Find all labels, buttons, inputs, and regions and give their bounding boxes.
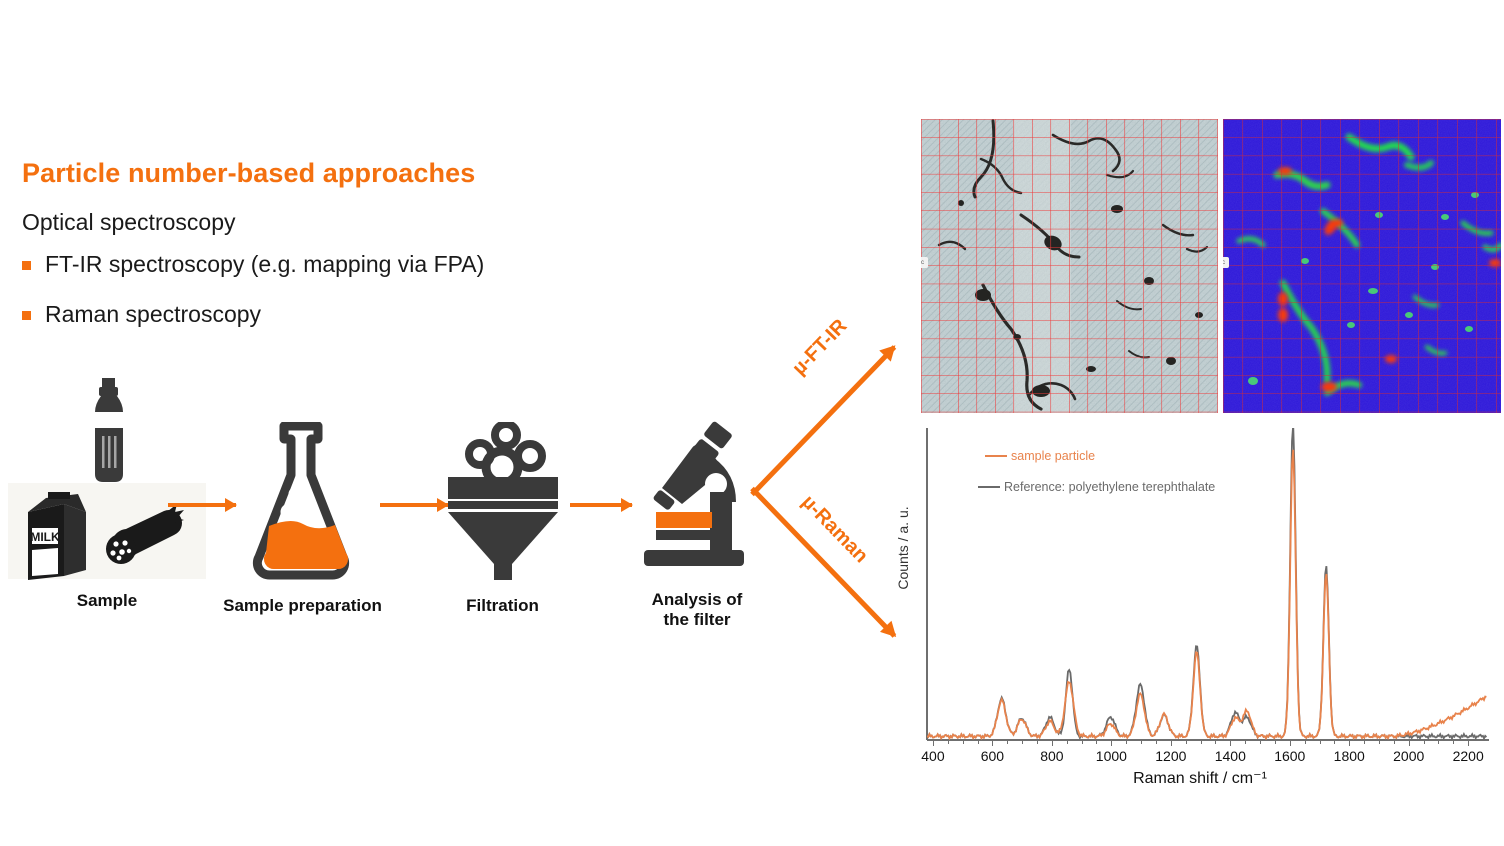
salami-icon: [98, 500, 186, 578]
x-tick-minor: [1082, 741, 1083, 744]
branch-label-ftir: µ-FT-IR: [788, 315, 852, 380]
step-label-analysis-line2: the filter: [612, 610, 782, 630]
x-tick-label: 600: [981, 748, 1004, 764]
x-tick: [1409, 741, 1410, 746]
workflow-step-preparation: Sample preparation: [200, 422, 405, 616]
water-bottle-icon: [78, 378, 138, 488]
page-title: Particle number-based approaches: [22, 158, 475, 189]
x-tick-minor: [1126, 741, 1127, 744]
y-axis-label: Counts / a. u.: [895, 473, 911, 623]
legend-swatch-reference: [978, 486, 1000, 489]
x-tick: [933, 741, 934, 746]
x-tick: [1111, 741, 1112, 746]
bullet-square-icon: [22, 261, 31, 270]
x-tick-minor: [1201, 741, 1202, 744]
x-tick-minor: [978, 741, 979, 744]
x-tick-minor: [1186, 741, 1187, 744]
x-tick-label: 1000: [1096, 748, 1127, 764]
x-tick-minor: [1320, 741, 1321, 744]
x-tick-minor: [1275, 741, 1276, 744]
x-tick-label: 1800: [1334, 748, 1365, 764]
milk-carton-icon: MILK: [20, 490, 98, 582]
x-tick: [1349, 741, 1350, 746]
x-tick-minor: [1453, 741, 1454, 744]
x-tick-minor: [948, 741, 949, 744]
step-label-filtration: Filtration: [420, 596, 585, 616]
x-tick-minor: [1424, 741, 1425, 744]
x-tick: [992, 741, 993, 746]
bullet-item-raman: Raman spectroscopy: [22, 301, 261, 328]
x-tick-minor: [1260, 741, 1261, 744]
legend-label-sample: sample particle: [1011, 449, 1095, 463]
image-marker-fpa: c: [1223, 257, 1229, 268]
x-tick-minor: [1141, 741, 1142, 744]
x-tick-label: 2000: [1393, 748, 1424, 764]
x-tick-minor: [1156, 741, 1157, 744]
workflow-step-analysis: Analysis of the filter: [612, 420, 782, 629]
x-tick: [1230, 741, 1231, 746]
x-tick-minor: [1245, 741, 1246, 744]
x-tick-minor: [1305, 741, 1306, 744]
bullet-item-ftir: FT-IR spectroscopy (e.g. mapping via FPA…: [22, 251, 484, 278]
x-tick-minor: [1394, 741, 1395, 744]
x-tick-label: 1200: [1155, 748, 1186, 764]
x-tick-minor: [1037, 741, 1038, 744]
x-tick: [1171, 741, 1172, 746]
erlenmeyer-flask-icon: [248, 422, 358, 582]
step-label-sample: Sample: [6, 591, 208, 611]
x-tick-label: 400: [921, 748, 944, 764]
workflow-step-filtration: Filtration: [420, 422, 585, 616]
series-line-reference: [927, 428, 1486, 738]
step-label-analysis: Analysis of the filter: [612, 590, 782, 629]
step-label-preparation: Sample preparation: [200, 596, 405, 616]
bullet-label: FT-IR spectroscopy (e.g. mapping via FPA…: [45, 251, 484, 278]
step-label-analysis-line1: Analysis of: [612, 590, 782, 610]
x-tick-minor: [1334, 741, 1335, 744]
legend-swatch-sample: [985, 455, 1007, 458]
spectrum-plot-area: [927, 428, 1487, 740]
x-tick-label: 2200: [1453, 748, 1484, 764]
x-tick-minor: [1022, 741, 1023, 744]
bullet-label: Raman spectroscopy: [45, 301, 261, 328]
x-tick-label: 1600: [1274, 748, 1305, 764]
legend-item-sample: sample particle: [985, 449, 1095, 463]
x-tick-minor: [1215, 741, 1216, 744]
fpa-image-content: [1223, 119, 1501, 413]
microscope-icon: [632, 420, 767, 580]
x-tick-minor: [1379, 741, 1380, 744]
x-tick: [1290, 741, 1291, 746]
fpa-chemical-map: c: [1223, 119, 1501, 413]
x-tick: [1468, 741, 1469, 746]
legend-item-reference: Reference: polyethylene terephthalate: [978, 480, 1215, 494]
x-tick-minor: [1096, 741, 1097, 744]
x-tick-minor: [963, 741, 964, 744]
x-tick-minor: [1067, 741, 1068, 744]
x-tick-minor: [1438, 741, 1439, 744]
optical-micrograph-of-filter: c: [921, 119, 1218, 413]
workflow-step-sample: MILK Sample: [6, 378, 208, 611]
milk-label: MILK: [30, 530, 60, 544]
workflow-diagram: MILK Sample Sample pre: [0, 370, 790, 640]
funnel-icon: [438, 422, 568, 582]
x-tick-minor: [1007, 741, 1008, 744]
x-axis-label: Raman shift / cm⁻¹: [1040, 768, 1360, 788]
raman-spectrum-chart: Counts / a. u. Raman shift / cm⁻¹ 400600…: [890, 420, 1496, 790]
branch-label-raman: µ-Raman: [797, 491, 873, 568]
image-marker-optical: c: [921, 257, 928, 268]
subheading: Optical spectroscopy: [22, 209, 235, 236]
bullet-square-icon: [22, 311, 31, 320]
x-tick-label: 800: [1040, 748, 1063, 764]
x-tick-label: 1400: [1215, 748, 1246, 764]
legend-label-reference: Reference: polyethylene terephthalate: [1004, 480, 1215, 494]
x-tick: [1052, 741, 1053, 746]
x-tick-minor: [1364, 741, 1365, 744]
optical-image-content: [921, 119, 1218, 413]
